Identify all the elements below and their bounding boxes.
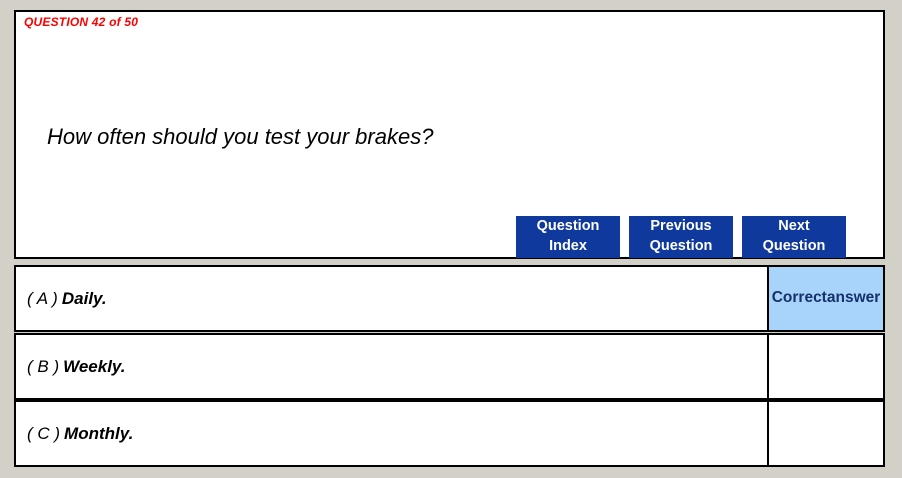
question-text: How often should you test your brakes? xyxy=(47,124,433,150)
next-question-button-line1: Next xyxy=(778,217,809,237)
answer-option-a[interactable]: ( A ) Daily. xyxy=(16,267,769,330)
correct-answer-line1: Correct xyxy=(772,288,827,309)
answer-option-c[interactable]: ( C ) Monthly. xyxy=(16,402,769,465)
answer-status-c xyxy=(769,402,883,465)
answer-letter-b: ( B ) xyxy=(27,357,59,377)
correct-answer-line2: answer xyxy=(827,288,880,309)
previous-question-button[interactable]: Previous Question xyxy=(629,216,733,258)
answer-row[interactable]: ( A ) Daily. Correct answer xyxy=(14,265,885,332)
answer-label-a: Daily. xyxy=(62,289,107,309)
answer-status-a: Correct answer xyxy=(769,267,883,330)
next-question-button-line2: Question xyxy=(763,237,826,257)
answer-label-b: Weekly. xyxy=(63,357,125,377)
previous-question-button-line1: Previous xyxy=(650,217,711,237)
next-question-button[interactable]: Next Question xyxy=(742,216,846,258)
previous-question-button-line2: Question xyxy=(650,237,713,257)
question-index-button-line2: Index xyxy=(549,237,587,257)
question-index-button-line1: Question xyxy=(537,217,600,237)
answer-option-b[interactable]: ( B ) Weekly. xyxy=(16,335,769,398)
answer-row[interactable]: ( C ) Monthly. xyxy=(14,400,885,467)
answer-row[interactable]: ( B ) Weekly. xyxy=(14,333,885,400)
question-counter: QUESTION 42 of 50 xyxy=(24,15,138,29)
question-panel: QUESTION 42 of 50 How often should you t… xyxy=(14,10,885,259)
answer-letter-a: ( A ) xyxy=(27,289,58,309)
navigation-buttons: Question Index Previous Question Next Qu… xyxy=(516,216,856,258)
answer-letter-c: ( C ) xyxy=(27,424,60,444)
answer-status-b xyxy=(769,335,883,398)
quiz-page: QUESTION 42 of 50 How often should you t… xyxy=(0,0,902,478)
answer-label-c: Monthly. xyxy=(64,424,133,444)
question-index-button[interactable]: Question Index xyxy=(516,216,620,258)
